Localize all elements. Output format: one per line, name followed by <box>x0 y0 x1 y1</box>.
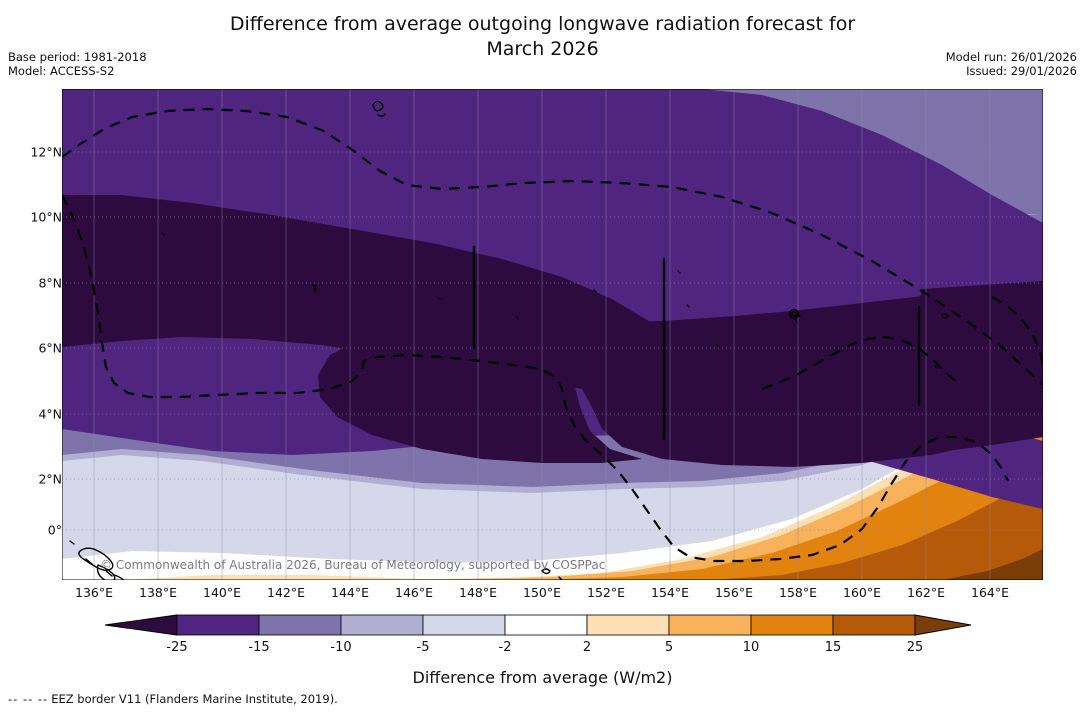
colorbar-tick-label: -15 <box>248 640 269 655</box>
x-tick-label: 144°E <box>331 585 369 600</box>
band-below-neg25-east <box>907 281 1043 453</box>
x-tick-label: 146°E <box>395 585 433 600</box>
x-tick-label: 158°E <box>779 585 817 600</box>
colorbar-band <box>587 615 669 635</box>
y-tick-label: 2°N <box>6 472 62 487</box>
colorbar-tick-label: 15 <box>825 640 842 655</box>
x-axis: 136°E 138°E 140°E 142°E 144°E 146°E 148°… <box>0 585 1085 605</box>
metadata-right: Model run: 26/01/2026 Issued: 29/01/2026 <box>946 50 1077 78</box>
model-run-label: Model run: 26/01/2026 <box>946 50 1077 64</box>
y-tick-label: 12°N <box>6 145 62 160</box>
x-tick-label: 140°E <box>203 585 241 600</box>
colorbar-tick-label: -25 <box>166 640 187 655</box>
colorbar-band <box>423 615 505 635</box>
map-copyright: © Commonwealth of Australia 2026, Bureau… <box>100 558 605 572</box>
colorbar-band <box>833 615 915 635</box>
eez-legend-text: EEZ border V11 (Flanders Marine Institut… <box>51 692 338 706</box>
x-tick-label: 138°E <box>139 585 177 600</box>
x-tick-label: 136°E <box>75 585 113 600</box>
y-tick-label: 4°N <box>6 407 62 422</box>
contour-map-svg <box>62 89 1043 580</box>
colorbar-extend-low <box>105 615 177 635</box>
colorbar-extend-high <box>915 615 971 635</box>
colorbar-band <box>669 615 751 635</box>
x-tick-label: 164°E <box>971 585 1009 600</box>
y-tick-label: 8°N <box>6 276 62 291</box>
colorbar-band <box>751 615 833 635</box>
y-axis: 12°N 10°N 8°N 6°N 4°N 2°N 0° <box>0 0 62 713</box>
colorbar-band <box>341 615 423 635</box>
colorbar-axis-label: Difference from average (W/m2) <box>0 668 1085 687</box>
x-tick-label: 162°E <box>907 585 945 600</box>
colorbar-tick-label: 5 <box>665 640 673 655</box>
colorbar-tick-label: -5 <box>417 640 430 655</box>
colorbar-tick-label: 2 <box>583 640 591 655</box>
x-tick-label: 152°E <box>587 585 625 600</box>
eez-legend: -- -- --EEZ border V11 (Flanders Marine … <box>8 692 338 706</box>
colorbar-svg <box>105 614 971 636</box>
colorbar-ticks: -25 -15 -10 -5 -2 2 5 10 15 25 <box>105 640 971 658</box>
issued-label: Issued: 29/01/2026 <box>946 64 1077 78</box>
page-title: Difference from average outgoing longwav… <box>0 12 1085 62</box>
eez-legend-dashes: -- -- -- <box>8 692 48 706</box>
colorbar-band <box>505 615 587 635</box>
colorbar-tick-label: 10 <box>743 640 760 655</box>
colorbar-band <box>177 615 259 635</box>
colorbar-tick-label: 25 <box>907 640 924 655</box>
y-tick-label: 10°N <box>6 210 62 225</box>
x-tick-label: 150°E <box>523 585 561 600</box>
x-tick-label: 148°E <box>459 585 497 600</box>
x-tick-label: 154°E <box>651 585 689 600</box>
x-tick-label: 142°E <box>267 585 305 600</box>
colorbar-tick-label: -2 <box>499 640 512 655</box>
x-tick-label: 160°E <box>843 585 881 600</box>
colorbar-band <box>259 615 341 635</box>
y-tick-label: 6°N <box>6 341 62 356</box>
colorbar-bands <box>177 615 915 635</box>
contour-map <box>62 89 1043 580</box>
colorbar-tick-label: -10 <box>330 640 351 655</box>
x-tick-label: 156°E <box>715 585 753 600</box>
colorbar <box>105 614 971 636</box>
figure-canvas: Difference from average outgoing longwav… <box>0 0 1085 713</box>
contour-bands <box>62 89 1043 580</box>
y-tick-label: 0° <box>6 523 62 538</box>
